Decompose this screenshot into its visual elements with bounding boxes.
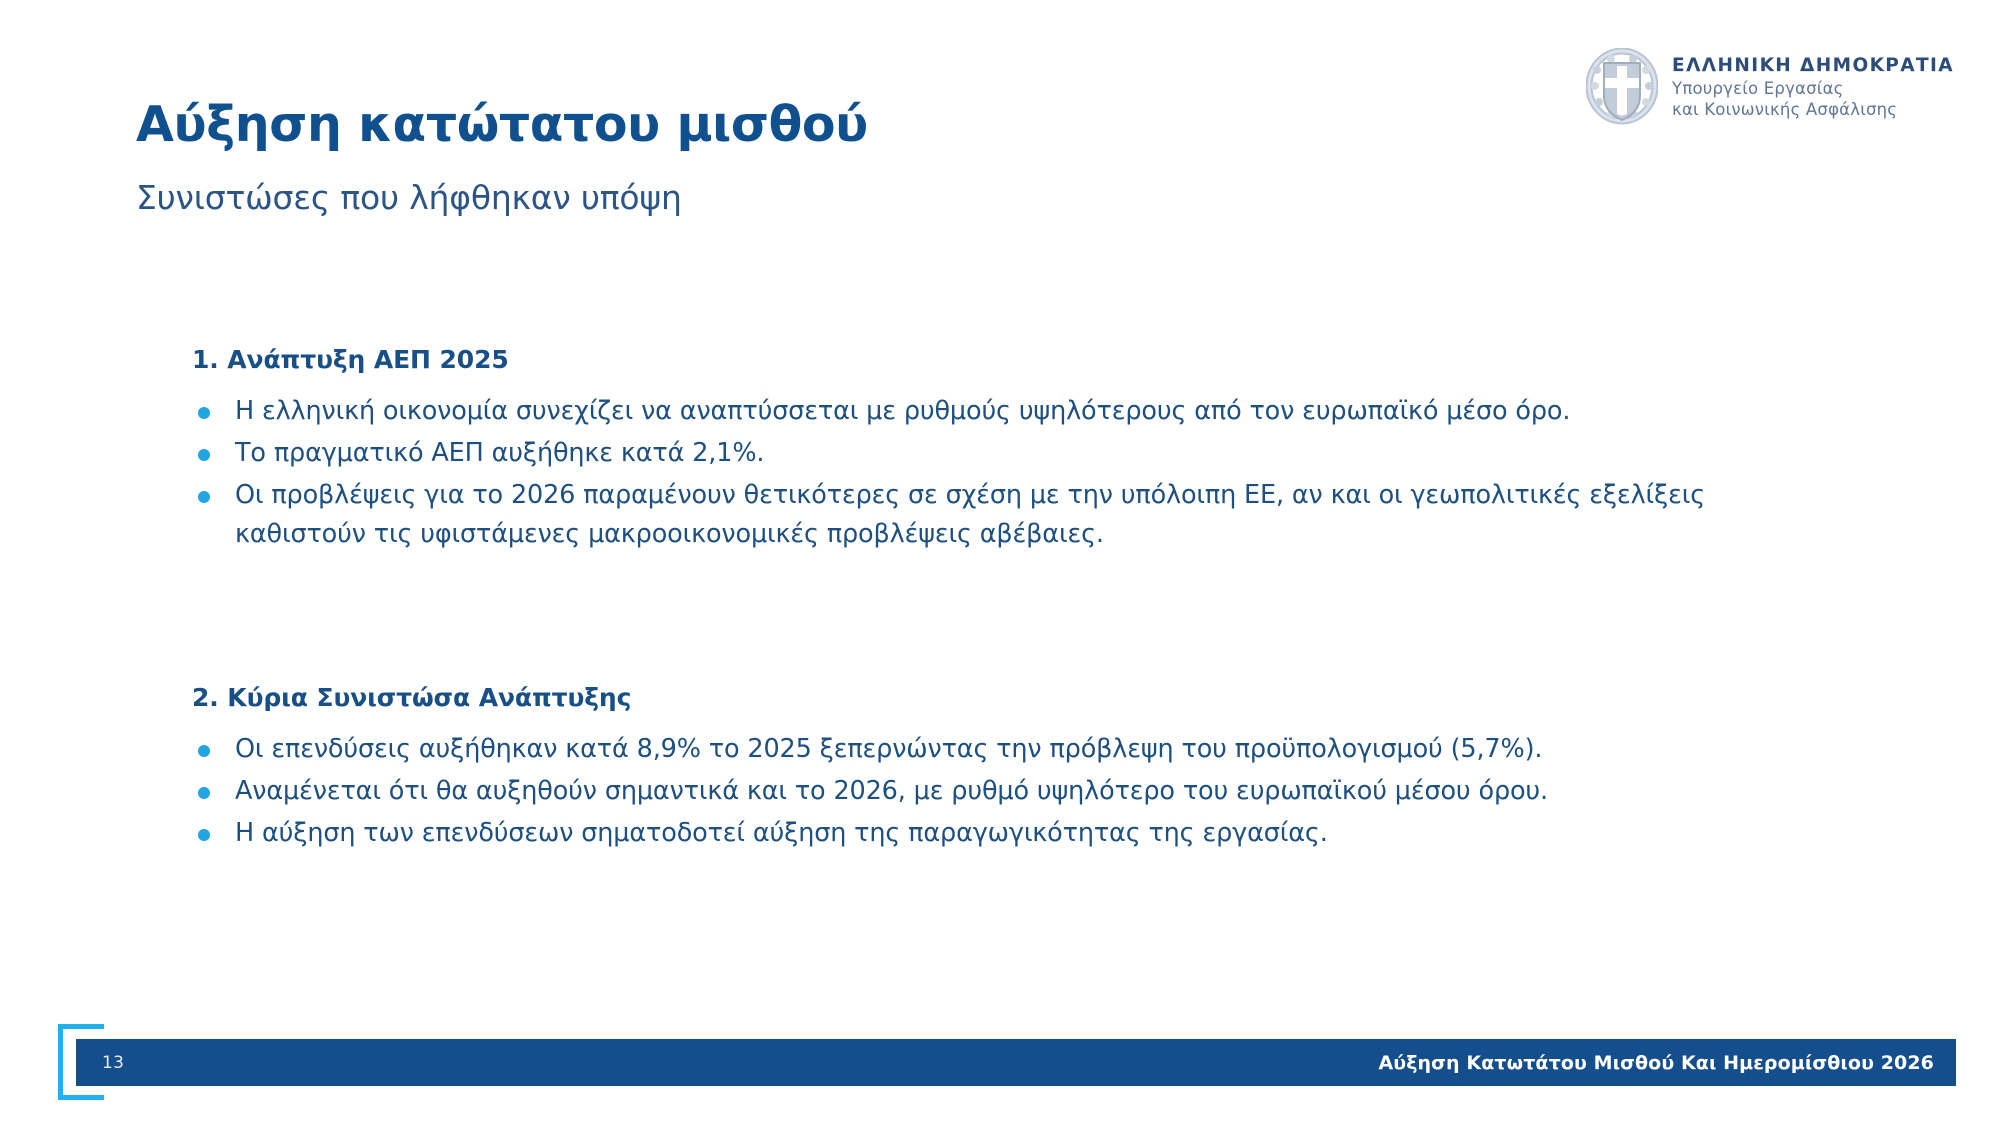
logo-line-republic: ΕΛΛΗΝΙΚΗ ΔΗΜΟΚΡΑΤΙΑ: [1672, 54, 1954, 78]
list-item: Οι προβλέψεις για το 2026 παραμένουν θετ…: [190, 476, 1830, 556]
greek-coat-of-arms-icon: [1586, 48, 1658, 126]
page-number: 13: [102, 1053, 124, 1073]
logo-line-ministry-cont: και Κοινωνικής Ασφάλισης: [1672, 99, 1954, 120]
slide-content: 1. Ανάπτυξη ΑΕΠ 2025 Η ελληνική οικονομί…: [190, 345, 1830, 855]
footer-bar: 13 Αύξηση Κατωτάτου Μισθού Και Ημερομίσθ…: [76, 1039, 1956, 1086]
bullet-list: Η ελληνική οικονομία συνεχίζει να αναπτύ…: [190, 392, 1830, 555]
footer-title: Αύξηση Κατωτάτου Μισθού Και Ημερομίσθιου…: [1378, 1052, 1934, 1074]
list-item: Αναμένεται ότι θα αυξηθούν σημαντικά και…: [190, 772, 1830, 812]
list-item: Η ελληνική οικονομία συνεχίζει να αναπτύ…: [190, 392, 1830, 432]
section-heading: 2. Κύρια Συνιστώσα Ανάπτυξης: [192, 683, 1830, 712]
page-title: Αύξηση κατώτατου μισθού: [136, 96, 868, 153]
section-gdp-growth: 1. Ανάπτυξη ΑΕΠ 2025 Η ελληνική οικονομί…: [190, 345, 1830, 555]
section-main-growth-component: 2. Κύρια Συνιστώσα Ανάπτυξης Οι επενδύσε…: [190, 683, 1830, 853]
ministry-logo: ΕΛΛΗΝΙΚΗ ΔΗΜΟΚΡΑΤΙΑ Υπουργείο Εργασίας κ…: [1586, 48, 1954, 126]
bullet-list: Οι επενδύσεις αυξήθηκαν κατά 8,9% το 202…: [190, 730, 1830, 853]
list-item: Το πραγματικό ΑΕΠ αυξήθηκε κατά 2,1%.: [190, 434, 1830, 474]
page-subtitle: Συνιστώσες που λήφθηκαν υπόψη: [136, 178, 682, 217]
logo-line-ministry: Υπουργείο Εργασίας: [1672, 78, 1954, 99]
list-item: Η αύξηση των επενδύσεων σηματοδοτεί αύξη…: [190, 814, 1830, 854]
list-item: Οι επενδύσεις αυξήθηκαν κατά 8,9% το 202…: [190, 730, 1830, 770]
section-heading: 1. Ανάπτυξη ΑΕΠ 2025: [192, 345, 1830, 374]
ministry-logo-text: ΕΛΛΗΝΙΚΗ ΔΗΜΟΚΡΑΤΙΑ Υπουργείο Εργασίας κ…: [1672, 54, 1954, 120]
